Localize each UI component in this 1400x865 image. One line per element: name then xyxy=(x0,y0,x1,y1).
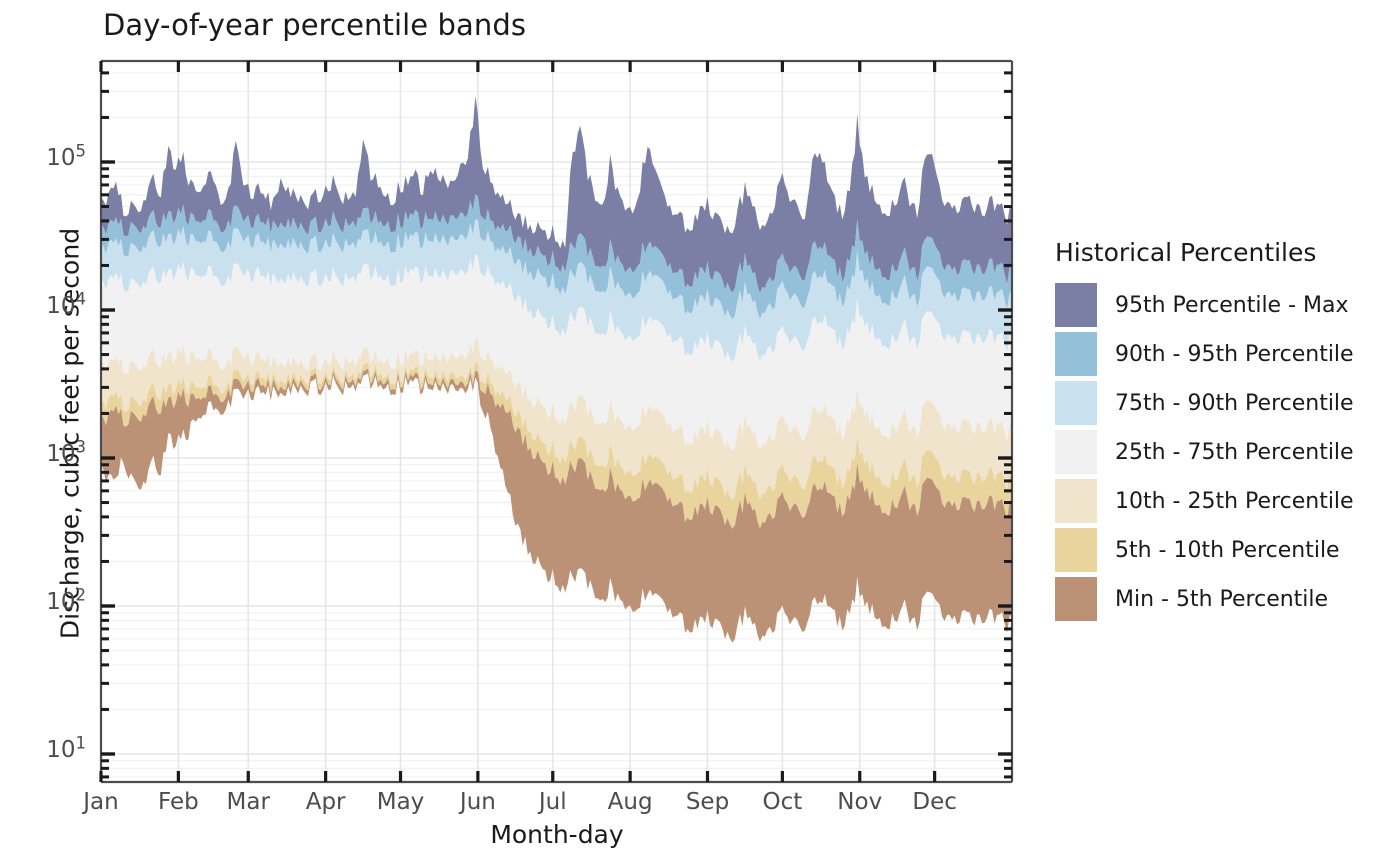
legend-item[interactable]: 5th - 10th Percentile xyxy=(1055,528,1340,572)
x-tick-label: Sep xyxy=(686,789,729,815)
legend-swatch xyxy=(1055,479,1097,523)
y-tick-base: 10 xyxy=(46,293,75,319)
legend-item[interactable]: Min - 5th Percentile xyxy=(1055,577,1328,621)
legend-item-label: 75th - 90th Percentile xyxy=(1115,391,1354,416)
legend-swatch xyxy=(1055,430,1097,474)
legend-swatch xyxy=(1055,577,1097,621)
legend-item-label: 10th - 25th Percentile xyxy=(1115,489,1354,514)
x-tick-label: Jan xyxy=(83,789,118,815)
y-tick-base: 10 xyxy=(46,441,75,467)
y-tick-label: 102 xyxy=(0,589,86,615)
legend-item[interactable]: 10th - 25th Percentile xyxy=(1055,479,1354,523)
x-tick-label: Jun xyxy=(460,789,496,815)
y-tick-base: 10 xyxy=(46,589,75,615)
y-tick-label: 104 xyxy=(0,293,86,319)
legend-item[interactable]: 75th - 90th Percentile xyxy=(1055,381,1354,425)
legend-swatch xyxy=(1055,381,1097,425)
x-tick-label: Apr xyxy=(306,789,346,815)
chart-figure: Day-of-year percentile bands Discharge, … xyxy=(0,0,1400,865)
x-tick-label: Feb xyxy=(158,789,199,815)
y-tick-exponent: 5 xyxy=(75,141,86,160)
y-tick-exponent: 3 xyxy=(75,437,86,456)
x-tick-label: Dec xyxy=(912,789,957,815)
legend-swatch xyxy=(1055,332,1097,376)
legend-item-label: 95th Percentile - Max xyxy=(1115,293,1349,318)
legend-item-label: 25th - 75th Percentile xyxy=(1115,440,1354,465)
x-tick-label: May xyxy=(377,789,425,815)
legend-swatch xyxy=(1055,283,1097,327)
x-tick-label: Oct xyxy=(762,789,802,815)
y-tick-exponent: 1 xyxy=(75,733,86,752)
y-tick-exponent: 4 xyxy=(75,289,86,308)
y-tick-exponent: 2 xyxy=(75,585,86,604)
y-tick-base: 10 xyxy=(46,145,75,171)
x-tick-label: Mar xyxy=(227,789,270,815)
y-tick-label: 105 xyxy=(0,145,86,171)
legend-item-label: 5th - 10th Percentile xyxy=(1115,538,1340,563)
legend-item[interactable]: 90th - 95th Percentile xyxy=(1055,332,1354,376)
legend-swatch xyxy=(1055,528,1097,572)
legend-item[interactable]: 95th Percentile - Max xyxy=(1055,283,1349,327)
legend-item[interactable]: 25th - 75th Percentile xyxy=(1055,430,1354,474)
x-tick-label: Nov xyxy=(837,789,882,815)
legend-item-label: Min - 5th Percentile xyxy=(1115,587,1328,612)
x-tick-label: Aug xyxy=(608,789,653,815)
x-tick-label: Jul xyxy=(539,789,567,815)
y-tick-label: 103 xyxy=(0,441,86,467)
legend-item-label: 90th - 95th Percentile xyxy=(1115,342,1354,367)
y-tick-base: 10 xyxy=(46,737,75,763)
y-tick-label: 101 xyxy=(0,737,86,763)
legend-title: Historical Percentiles xyxy=(1055,238,1316,267)
